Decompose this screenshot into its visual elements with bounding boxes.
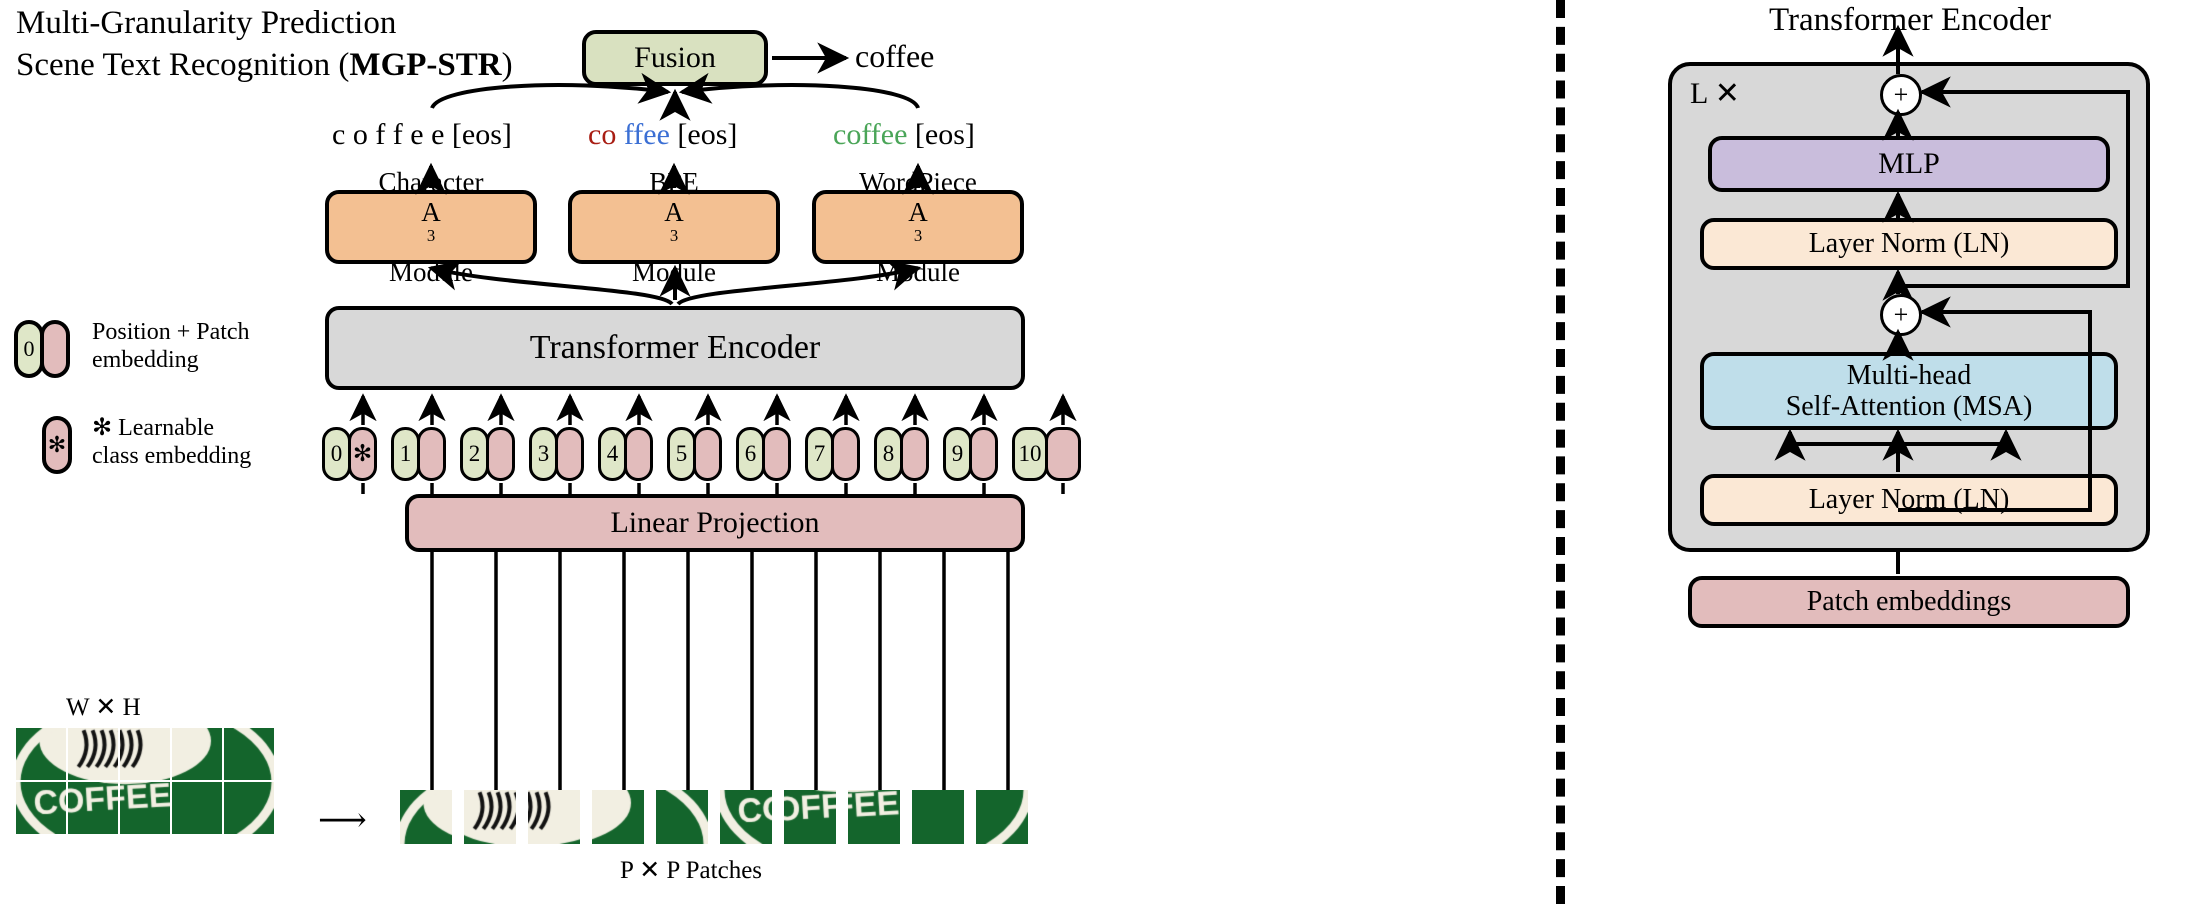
panel-divider	[1556, 0, 1565, 904]
layer-norm-top-box[interactable]: Layer Norm (LN)	[1700, 218, 2118, 270]
bpe-token-2: ffee	[624, 118, 670, 151]
a3-bpe-line1: BPE	[649, 167, 699, 197]
legend-text-class-embedding: ✻ Learnable class embedding	[92, 414, 322, 471]
a3-char-sup: 3	[427, 226, 435, 245]
prediction-wordpiece: coffee [eos]	[833, 118, 975, 152]
image-patch-r0-c0	[16, 728, 66, 780]
prediction-bpe: co ffee [eos]	[588, 118, 737, 152]
a3-char-line1: Character	[379, 167, 484, 197]
a3-module-bpe[interactable]: BPE A3 Module	[568, 190, 780, 264]
legend-cls-line1: ✻ Learnable	[92, 414, 322, 442]
msa-line-1: Multi-head	[1847, 360, 1971, 391]
a3-wp-sup: 3	[914, 226, 922, 245]
legend-item-class-embedding: ✻ ✻ Learnable class embedding	[14, 414, 314, 476]
a3-wp-module: Module	[876, 257, 960, 287]
image-patch-r1-c2	[120, 782, 170, 834]
position-embedding-9: 9	[943, 427, 972, 481]
image-patch-r1-c1	[68, 782, 118, 834]
bpe-eos: [eos]	[677, 118, 737, 151]
patch-sequence-item-3	[528, 790, 580, 844]
a3-bpe-a: A	[632, 197, 716, 227]
a3-wp-line1: WordPiece	[859, 167, 977, 197]
image-patch-r1-c0	[16, 782, 66, 834]
a3-char-module: Module	[389, 257, 473, 287]
legend-patch-oval	[40, 320, 70, 378]
legend: 0 Position + Patch embedding ✻ ✻ Learnab…	[14, 318, 314, 510]
a3-module-wordpiece[interactable]: WordPiece A3 Module	[812, 190, 1024, 264]
position-embedding-7: 7	[805, 427, 834, 481]
a3-bpe-module: Module	[632, 257, 716, 287]
position-embedding-1: 1	[391, 427, 420, 481]
patch-sequence-item-8	[848, 790, 900, 844]
wordpiece-eos: [eos]	[915, 118, 975, 151]
mlp-box[interactable]: MLP	[1708, 136, 2110, 192]
output-text: coffee	[855, 38, 934, 75]
input-image-grid	[16, 728, 274, 834]
position-embedding-3: 3	[529, 427, 558, 481]
input-flow-arrow: ⟶	[318, 800, 367, 840]
legend-pp-line2: embedding	[92, 346, 322, 374]
patch-embedding-9	[969, 427, 998, 481]
encoder-panel-title: Transformer Encoder	[1640, 2, 2180, 39]
patch-embedding-5	[693, 427, 722, 481]
patch-sequence-item-9	[912, 790, 964, 844]
residual-add-top-icon: +	[1880, 74, 1922, 116]
position-embedding-4: 4	[598, 427, 627, 481]
title-line-2-prefix: Scene Text Recognition (	[16, 47, 349, 83]
image-patch-r0-c4	[224, 728, 274, 780]
title-acronym: MGP-STR	[349, 47, 501, 83]
legend-class-oval: ✻	[42, 416, 72, 474]
layer-norm-bottom-box[interactable]: Layer Norm (LN)	[1700, 474, 2118, 526]
legend-pp-line1: Position + Patch	[92, 318, 322, 346]
patch-sequence-item-6	[720, 790, 772, 844]
legend-cls-line2: class embedding	[92, 442, 322, 470]
image-patch-r0-c1	[68, 728, 118, 780]
image-patch-r0-c3	[172, 728, 222, 780]
title-line-2-suffix: )	[502, 47, 513, 83]
patch-sequence-strip	[400, 790, 1028, 844]
residual-add-bottom-icon: +	[1880, 294, 1922, 336]
patch-sequence-item-7	[784, 790, 836, 844]
transformer-encoder-box[interactable]: Transformer Encoder	[325, 306, 1025, 390]
msa-box[interactable]: Multi-head Self-Attention (MSA)	[1700, 352, 2118, 430]
patch-sequence-item-5	[656, 790, 708, 844]
repeat-count-label: L ✕	[1690, 76, 1740, 111]
msa-line-2: Self-Attention (MSA)	[1786, 391, 2033, 422]
patch-size-label: P ✕ P Patches	[620, 855, 762, 885]
fusion-box[interactable]: Fusion	[582, 30, 768, 86]
patch-embedding-7	[831, 427, 860, 481]
patch-sequence-item-1	[400, 790, 452, 844]
patch-embedding-10	[1045, 427, 1081, 481]
position-embedding-2: 2	[460, 427, 489, 481]
image-patch-r1-c4	[224, 782, 274, 834]
patch-embedding-8	[900, 427, 929, 481]
position-embedding-10: 10	[1012, 427, 1048, 481]
image-size-label: W ✕ H	[66, 692, 141, 722]
a3-wp-a: A	[876, 197, 960, 227]
a3-module-character[interactable]: Character A3 Module	[325, 190, 537, 264]
bpe-token-1: co	[588, 118, 616, 151]
a3-char-a: A	[389, 197, 473, 227]
patch-sequence-item-4	[592, 790, 644, 844]
patch-embedding-2	[486, 427, 515, 481]
wordpiece-token-1: coffee	[833, 118, 907, 151]
patch-sequence-item-2	[464, 790, 516, 844]
class-embedding-token: ✻	[348, 427, 377, 481]
image-patch-r0-c2	[120, 728, 170, 780]
legend-item-position-patch: 0 Position + Patch embedding	[14, 318, 314, 380]
position-embedding-6: 6	[736, 427, 765, 481]
patch-embedding-4	[624, 427, 653, 481]
patch-sequence-item-10	[976, 790, 1028, 844]
legend-text-position-patch: Position + Patch embedding	[92, 318, 322, 375]
patch-embedding-3	[555, 427, 584, 481]
position-embedding-5: 5	[667, 427, 696, 481]
a3-bpe-sup: 3	[670, 226, 678, 245]
patch-embeddings-box[interactable]: Patch embeddings	[1688, 576, 2130, 628]
patch-embedding-1	[417, 427, 446, 481]
prediction-character: c o f f e e [eos]	[332, 118, 512, 152]
linear-projection-box[interactable]: Linear Projection	[405, 494, 1025, 552]
image-patch-r1-c3	[172, 782, 222, 834]
position-embedding-0: 0	[322, 427, 351, 481]
position-embedding-8: 8	[874, 427, 903, 481]
patch-embedding-6	[762, 427, 791, 481]
